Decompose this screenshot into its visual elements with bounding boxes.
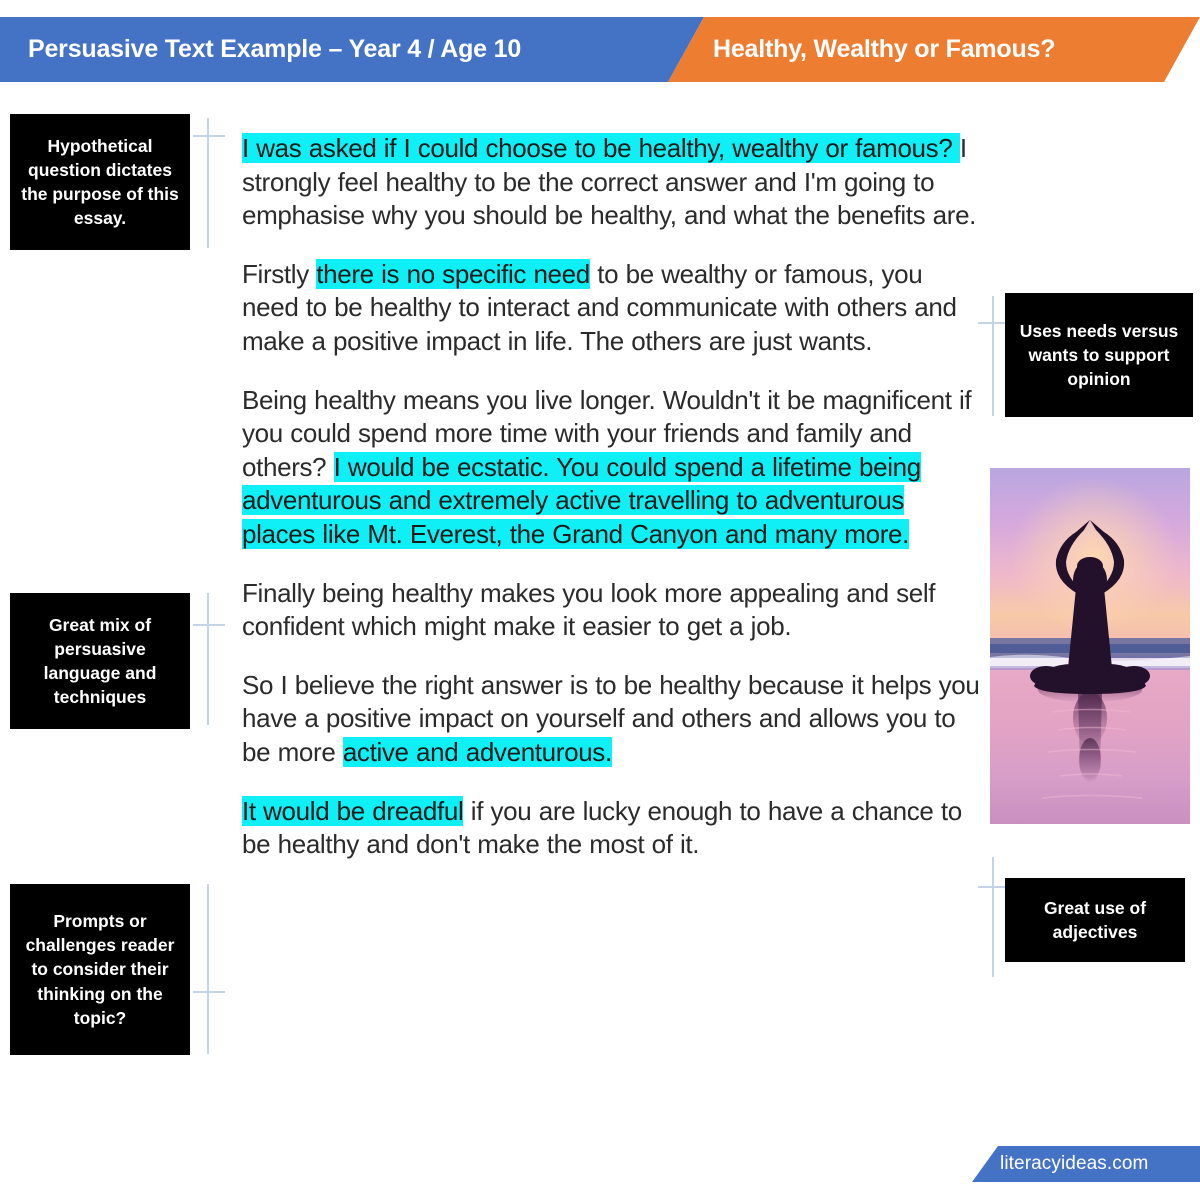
connector-tick-needs <box>978 322 1008 324</box>
highlighted-text-run: active and adventurous. <box>343 737 612 767</box>
connector-line-prompts <box>207 884 209 1054</box>
highlighted-text-run: I was asked if I could choose to be heal… <box>242 133 960 163</box>
highlighted-text-run: I would be ecstatic. You could spend a l… <box>242 452 921 549</box>
header-left-title: Persuasive Text Example – Year 4 / Age 1… <box>28 17 521 82</box>
callout-persuasive-language: Great mix of persuasive language and tec… <box>10 593 190 729</box>
paragraph-3: Being healthy means you live longer. Wou… <box>242 384 982 552</box>
paragraph-2: Firstly there is no specific need to be … <box>242 258 982 359</box>
plain-text-run: Finally being healthy makes you look mor… <box>242 578 935 642</box>
paragraph-1: I was asked if I could choose to be heal… <box>242 132 982 233</box>
callout-prompts-reader: Prompts or challenges reader to consider… <box>10 884 190 1055</box>
paragraph-6: It would be dreadful if you are lucky en… <box>242 795 982 862</box>
callout-hypothetical-question: Hypothetical question dictates the purpo… <box>10 114 190 250</box>
connector-line-hypothetical <box>207 118 209 248</box>
header-banner: Persuasive Text Example – Year 4 / Age 1… <box>0 17 1200 82</box>
callout-needs-versus-wants: Uses needs versus wants to support opini… <box>1005 293 1193 417</box>
paragraph-5: So I believe the right answer is to be h… <box>242 669 982 770</box>
callout-use-of-adjectives: Great use of adjectives <box>1005 878 1185 962</box>
highlighted-text-run: It would be dreadful <box>242 796 463 826</box>
header-right-title: Healthy, Wealthy or Famous? <box>713 17 1055 82</box>
highlighted-text-run: there is no specific need <box>316 259 590 289</box>
yoga-silhouette-image <box>990 468 1190 824</box>
connector-tick-mix <box>193 624 225 626</box>
connector-line-adjectives <box>992 857 994 977</box>
slide-canvas: Persuasive Text Example – Year 4 / Age 1… <box>0 0 1200 1200</box>
plain-text-run: Firstly <box>242 259 316 289</box>
connector-tick-hypothetical <box>193 135 225 137</box>
connector-line-needs <box>992 296 994 416</box>
connector-tick-prompts <box>193 991 225 993</box>
connector-tick-adjectives <box>978 886 1008 888</box>
essay-body: I was asked if I could choose to be heal… <box>242 132 982 862</box>
paragraph-4: Finally being healthy makes you look mor… <box>242 577 982 644</box>
footer-site-name[interactable]: literacyideas.com <box>1000 1146 1200 1182</box>
connector-line-mix <box>207 593 209 725</box>
